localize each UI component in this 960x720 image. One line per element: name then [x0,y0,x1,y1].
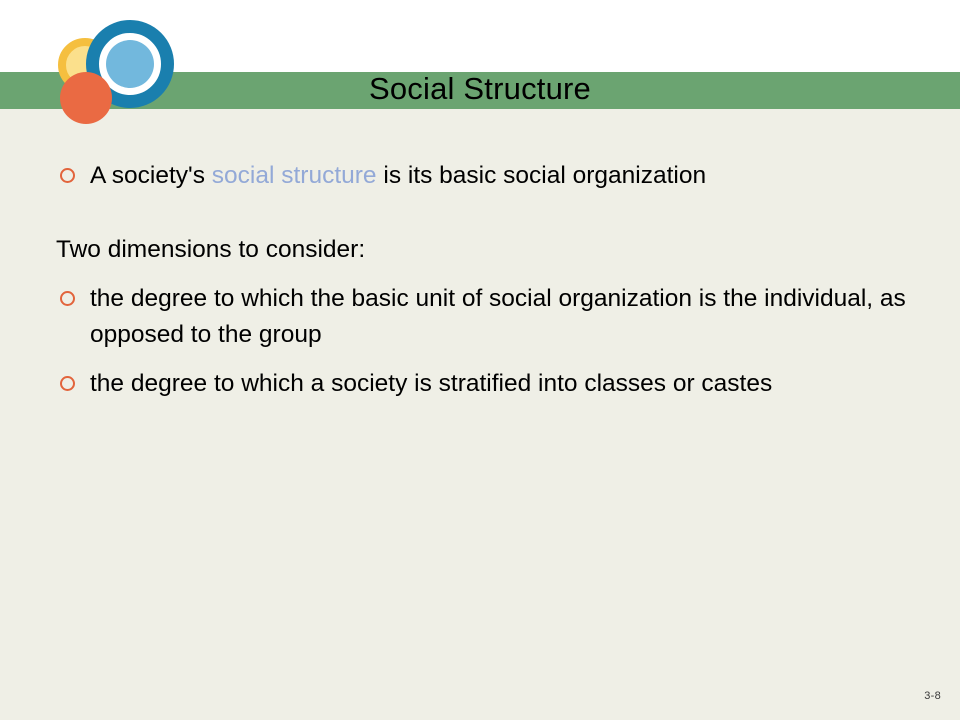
spacer [52,268,912,281]
slide-body: A society's social structure is its basi… [52,158,912,402]
bullet-item-3: the degree to which a society is stratif… [52,366,912,402]
page-number: 3-8 [924,690,941,702]
bullet-1-text-after: is its basic social organization [377,162,707,189]
lead-in-text: Two dimensions to consider: [52,232,912,268]
bullet-2-text: the degree to which the basic unit of so… [90,285,906,348]
bullet-ring-icon [60,376,75,391]
bullet-item-1: A society's social structure is its basi… [52,158,912,194]
bullet-ring-icon [60,291,75,306]
bullet-1-text-before: A society's [90,162,212,189]
bullet-1-highlight: social structure [212,162,377,189]
slide: Social Structure A society's social stru… [0,0,960,720]
bullet-ring-icon [60,168,75,183]
bullet-3-text: the degree to which a society is stratif… [90,370,772,397]
bullet-item-2: the degree to which the basic unit of so… [52,281,912,353]
page-title: Social Structure [0,67,960,111]
spacer [52,353,912,366]
spacer [52,194,912,232]
